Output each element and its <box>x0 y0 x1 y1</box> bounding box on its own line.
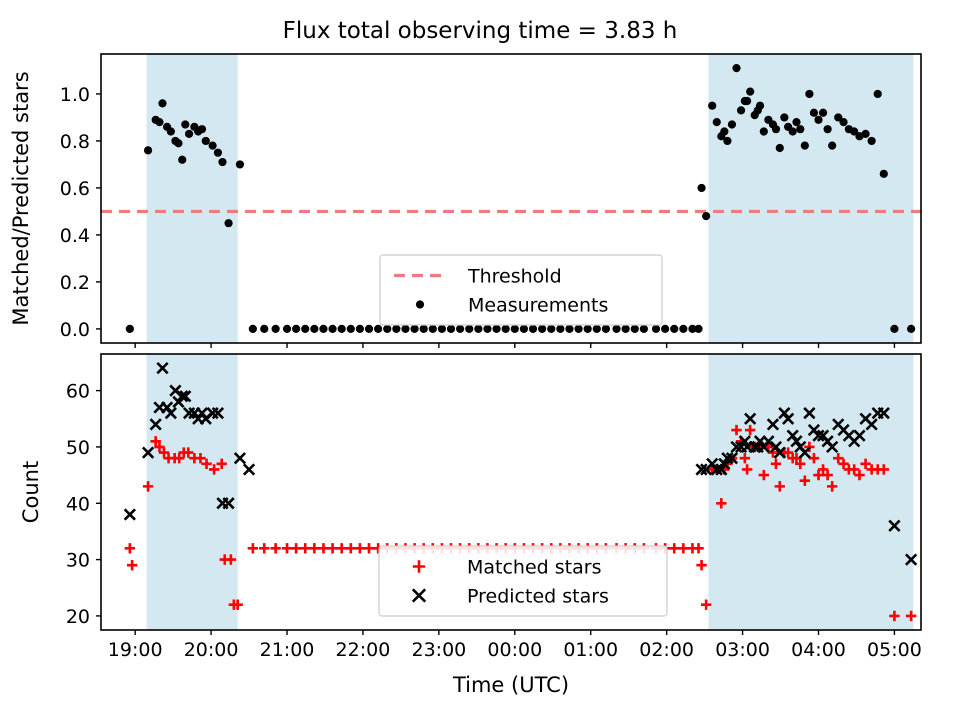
legend: ThresholdMeasurements <box>380 255 662 325</box>
data-point <box>772 125 780 133</box>
data-point <box>776 144 784 152</box>
data-point <box>236 160 244 168</box>
data-point <box>801 142 809 150</box>
data-point <box>214 149 222 157</box>
data-point <box>181 120 189 128</box>
data-point <box>602 325 610 333</box>
data-point <box>814 116 822 124</box>
data-point <box>374 325 382 333</box>
data-point <box>447 325 455 333</box>
data-point <box>756 102 764 110</box>
data-point <box>890 325 898 333</box>
figure-container: Flux total observing time = 3.83 h 0.00.… <box>0 0 960 720</box>
observing-window-shade-1 <box>147 54 238 343</box>
figure-title: Flux total observing time = 3.83 h <box>283 18 678 44</box>
data-point <box>708 102 716 110</box>
data-point <box>584 325 592 333</box>
data-point <box>640 325 648 333</box>
data-point <box>720 127 728 135</box>
data-point <box>874 90 882 98</box>
legend-label: Threshold <box>467 266 562 288</box>
y-tick-label: 0.8 <box>60 131 90 153</box>
data-point <box>292 325 300 333</box>
y-axis-label: Count <box>19 461 43 523</box>
data-point <box>792 118 800 126</box>
data-point <box>383 325 391 333</box>
data-point <box>907 325 915 333</box>
data-point <box>728 120 736 128</box>
data-point <box>702 212 710 220</box>
data-point <box>796 125 804 133</box>
data-point <box>456 325 464 333</box>
data-point <box>420 325 428 333</box>
data-point <box>155 118 163 126</box>
x-tick-label: 03:00 <box>715 639 770 661</box>
data-point <box>713 118 721 126</box>
y-tick-label: 1.0 <box>60 84 90 106</box>
observing-window-shade-1 <box>147 354 238 630</box>
data-point <box>819 109 827 117</box>
y-tick-label: 0.2 <box>60 272 90 294</box>
data-point <box>198 125 206 133</box>
x-tick-label: 20:00 <box>184 639 239 661</box>
y-tick-label: 40 <box>66 493 90 515</box>
data-point <box>202 137 210 145</box>
data-point <box>746 87 754 95</box>
data-point <box>174 139 182 147</box>
legend-marker-dot <box>416 300 424 308</box>
data-point <box>622 325 630 333</box>
data-point <box>249 325 257 333</box>
data-point <box>356 325 364 333</box>
data-point <box>272 325 280 333</box>
y-tick-label: 0.6 <box>60 178 90 200</box>
x-tick-label: 19:00 <box>108 639 163 661</box>
y-tick-label: 0.0 <box>60 319 90 341</box>
legend-label: Predicted stars <box>467 586 609 608</box>
data-point <box>502 325 510 333</box>
data-point <box>828 142 836 150</box>
data-point <box>723 137 731 145</box>
data-point <box>565 325 573 333</box>
data-point <box>410 325 418 333</box>
data-point <box>861 130 869 138</box>
data-point <box>483 325 491 333</box>
data-point <box>737 106 745 114</box>
data-point <box>805 90 813 98</box>
data-point <box>126 325 134 333</box>
matplotlib-figure: Flux total observing time = 3.83 h 0.00.… <box>0 0 960 720</box>
y-tick-label: 20 <box>66 606 90 628</box>
data-point <box>574 325 582 333</box>
data-point <box>158 99 166 107</box>
data-point <box>178 156 186 164</box>
y-axis-label: Matched/Predicted stars <box>9 71 33 325</box>
data-point <box>593 325 601 333</box>
data-point <box>732 64 740 72</box>
legend: Matched starsPredicted stars <box>379 546 667 616</box>
x-tick-label: 22:00 <box>336 639 391 661</box>
data-point <box>492 325 500 333</box>
data-point <box>529 325 537 333</box>
x-tick-label: 21:00 <box>260 639 315 661</box>
data-point <box>880 170 888 178</box>
data-point <box>547 325 555 333</box>
data-point <box>760 127 768 135</box>
y-tick-label: 60 <box>66 381 90 403</box>
data-point <box>365 325 373 333</box>
data-point <box>868 137 876 145</box>
data-point <box>167 127 175 135</box>
data-point <box>438 325 446 333</box>
data-point <box>612 325 620 333</box>
data-point <box>670 325 678 333</box>
y-tick-label: 50 <box>66 437 90 459</box>
data-point <box>556 325 564 333</box>
data-point <box>185 130 193 138</box>
data-point <box>224 219 232 227</box>
data-point <box>310 325 318 333</box>
data-point <box>810 109 818 117</box>
x-tick-label: 23:00 <box>411 639 466 661</box>
data-point <box>652 325 660 333</box>
data-point <box>697 184 705 192</box>
data-point <box>743 97 751 105</box>
data-point <box>631 325 639 333</box>
legend-label: Matched stars <box>467 557 601 579</box>
x-tick-label: 05:00 <box>867 639 922 661</box>
data-point <box>661 325 669 333</box>
data-point <box>347 325 355 333</box>
data-point <box>465 325 473 333</box>
x-axis-label: Time (UTC) <box>452 673 569 697</box>
data-point <box>260 325 268 333</box>
data-point <box>392 325 400 333</box>
data-point <box>218 158 226 166</box>
data-point <box>511 325 519 333</box>
data-point <box>338 325 346 333</box>
data-point <box>283 325 291 333</box>
x-tick-label: 04:00 <box>791 639 846 661</box>
data-point <box>144 146 152 154</box>
observing-window-shade-2 <box>708 354 913 630</box>
x-tick-label: 02:00 <box>639 639 694 661</box>
data-point <box>429 325 437 333</box>
data-point <box>679 325 687 333</box>
x-tick-label: 01:00 <box>563 639 618 661</box>
data-point <box>474 325 482 333</box>
data-point <box>789 127 797 135</box>
x-tick-label: 00:00 <box>487 639 542 661</box>
data-point <box>328 325 336 333</box>
legend-label: Measurements <box>468 295 608 317</box>
y-tick-label: 30 <box>66 550 90 572</box>
data-point <box>694 325 702 333</box>
data-point <box>401 325 409 333</box>
data-point <box>839 118 847 126</box>
data-point <box>780 113 788 121</box>
data-point <box>520 325 528 333</box>
data-point <box>319 325 327 333</box>
data-point <box>538 325 546 333</box>
y-tick-label: 0.4 <box>60 225 90 247</box>
data-point <box>301 325 309 333</box>
data-point <box>209 142 217 150</box>
data-point <box>824 125 832 133</box>
